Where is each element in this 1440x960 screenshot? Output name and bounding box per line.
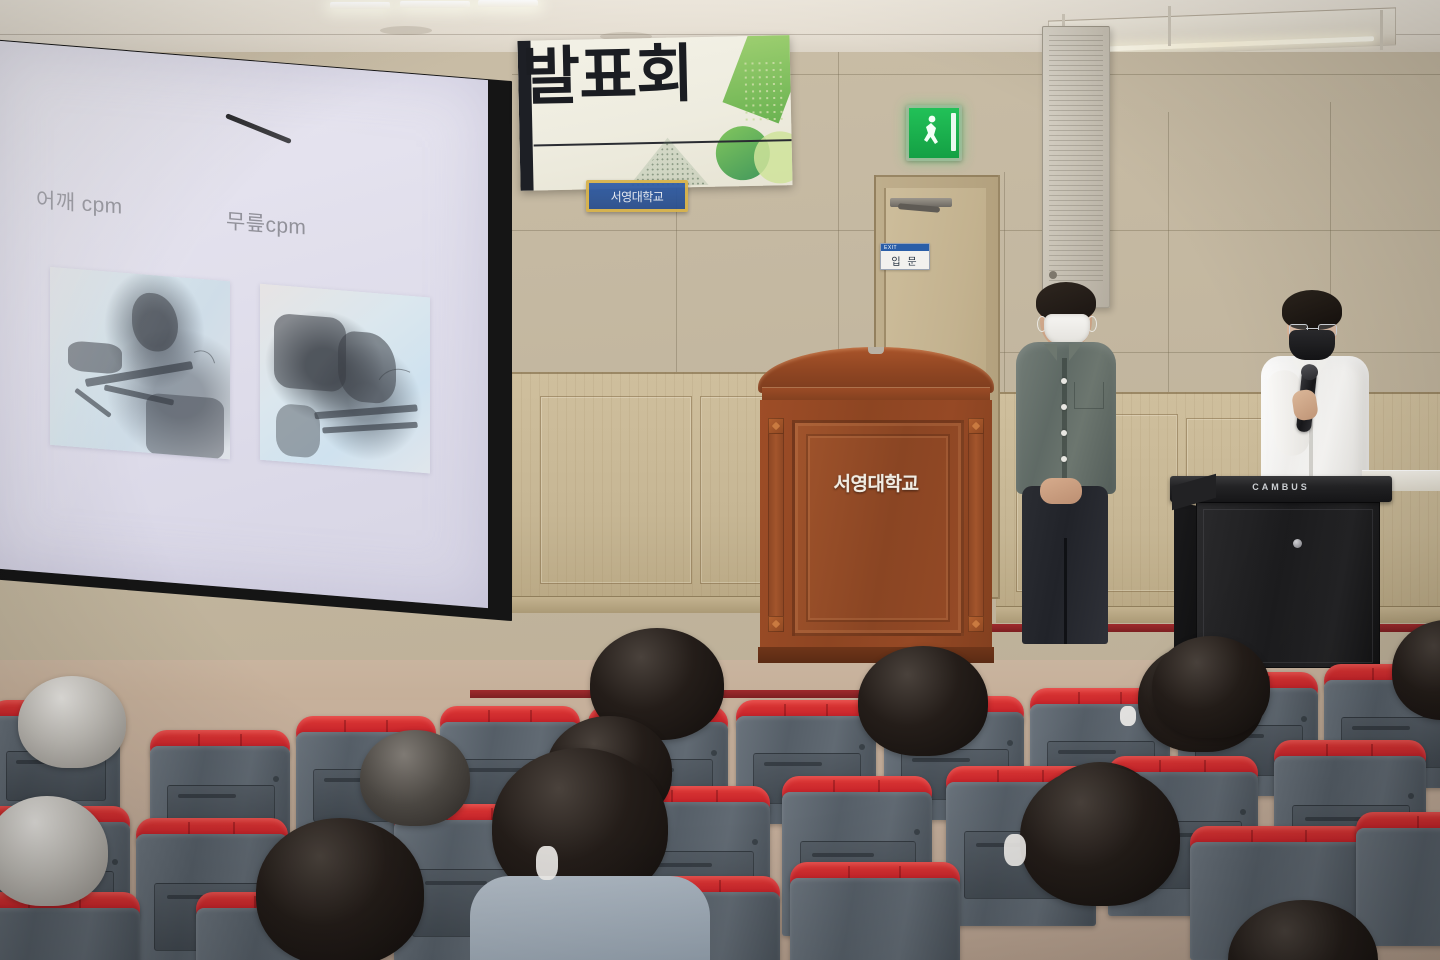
door-sign-exit-label: EXIT (881, 244, 929, 251)
banner-title-text: 발표회 (522, 41, 791, 110)
seat[interactable] (790, 862, 960, 960)
event-banner: 발표회 (517, 35, 792, 191)
projection-screen: 어깨 cpm 무릎cpm (0, 60, 512, 600)
presenter-left-face-mask (1044, 314, 1090, 344)
audience-head (256, 818, 424, 960)
audience-shoulders (470, 876, 710, 960)
lectern-lock-icon (1293, 539, 1302, 548)
audience-face-mask (1120, 706, 1136, 726)
lectern-brand-label: CAMBUS (1170, 482, 1392, 492)
presenter-right-hand (1291, 388, 1319, 421)
university-plaque: 서영대학교 (586, 180, 688, 212)
presenter-left-hands (1040, 478, 1082, 504)
door-sign-korean-label: 입 문 (881, 251, 929, 269)
audience-head (1020, 766, 1180, 906)
audience-head (1152, 636, 1270, 738)
audience-head (858, 646, 988, 756)
slide-image-shoulder-cpm (50, 267, 230, 459)
slide-heading-knee: 무릎cpm (226, 205, 306, 241)
audience-head (360, 730, 470, 826)
presenter-right-face-mask (1289, 330, 1335, 360)
slide-image-knee-cpm (260, 284, 430, 474)
slide-heading-shoulder: 어깨 cpm (36, 184, 123, 221)
podium-university-label: 서영대학교 (758, 469, 994, 496)
presenter-right (1255, 292, 1375, 492)
audience-face-mask (1004, 834, 1026, 866)
running-person-exit-icon (921, 115, 943, 149)
door-entrance-sign: EXIT 입 문 (880, 243, 930, 270)
auditorium-presentation-scene: 어깨 cpm 무릎cpm (0, 0, 1440, 960)
audience-face-mask (536, 846, 558, 880)
wooden-podium: 서영대학교 (758, 347, 994, 667)
audience-head (18, 676, 126, 768)
wall-speaker-column (1042, 26, 1110, 308)
seat[interactable] (1356, 812, 1440, 946)
presenter-left (1004, 286, 1122, 646)
emergency-exit-sign (906, 105, 962, 161)
